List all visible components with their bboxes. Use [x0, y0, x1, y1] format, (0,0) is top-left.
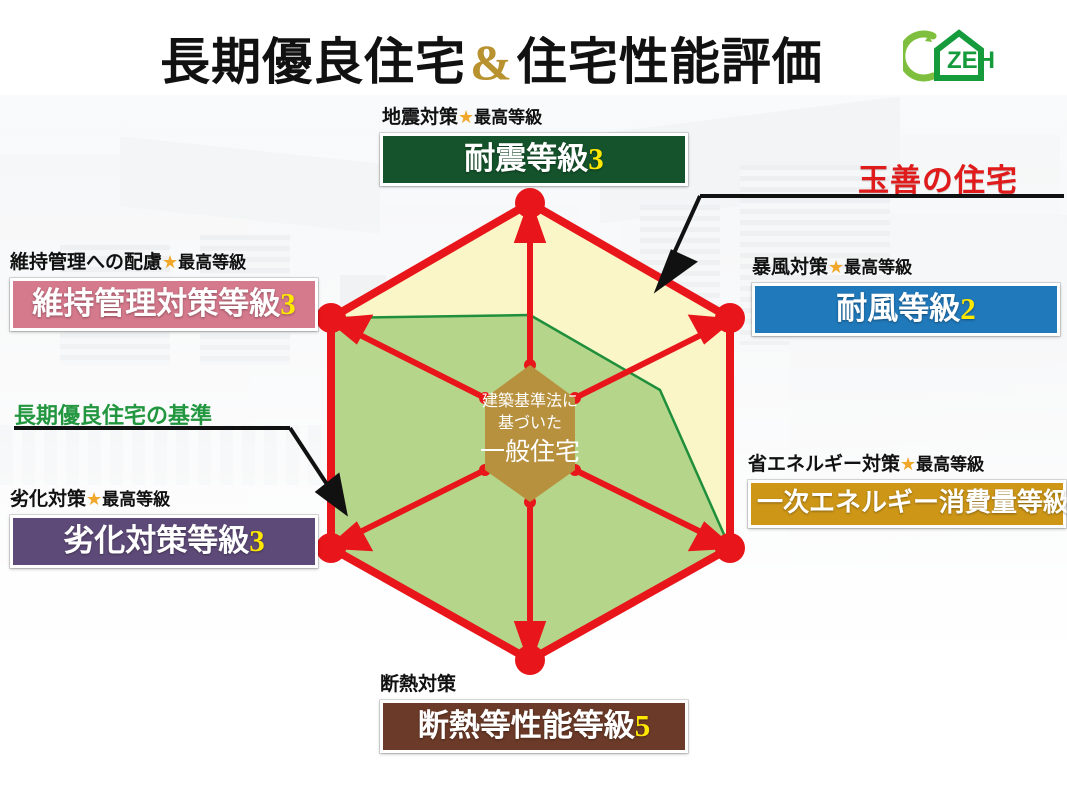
star-icon: ★ — [86, 489, 102, 510]
title-part-2: 住宅性能評価 — [517, 34, 823, 90]
item-energy-caption: 省エネルギー対策★最高等級 — [748, 455, 1066, 476]
item-degradation[interactable]: 劣化対策★最高等級 劣化対策等級3 — [10, 490, 318, 568]
header-bar: 長期優良住宅&住宅性能評価 ZEH — [0, 0, 1067, 95]
item-maintenance-caption: 維持管理への配慮★最高等級 — [10, 253, 318, 274]
item-energy-topic: 省エネルギー対策 — [748, 454, 900, 475]
item-earthquake-rank: 最高等級 — [474, 108, 542, 127]
hexagon-radar-chart: 建築基準法に 基づいた 一般住宅 — [250, 140, 815, 725]
item-degradation-grade-value: 3 — [249, 523, 265, 558]
item-earthquake-topic: 地震対策 — [382, 107, 458, 128]
item-earthquake-grade-value: 3 — [588, 141, 604, 176]
item-earthquake[interactable]: 地震対策★最高等級 耐震等級3 — [380, 108, 688, 186]
item-earthquake-caption: 地震対策★最高等級 — [382, 108, 688, 129]
star-icon: ★ — [162, 252, 178, 273]
item-wind-topic: 暴風対策 — [752, 257, 828, 278]
item-insulation-badge: 断熱等性能等級5 — [380, 700, 688, 753]
item-insulation-grade-text: 断熱等性能等級 — [418, 708, 635, 743]
item-maintenance-rank: 最高等級 — [178, 253, 246, 272]
item-maintenance-topic: 維持管理への配慮 — [10, 252, 162, 273]
item-degradation-topic: 劣化対策 — [10, 489, 86, 510]
item-insulation-grade-value: 5 — [635, 708, 651, 743]
callout-standard-label: 長期優良住宅の基準 — [14, 398, 212, 430]
item-wind[interactable]: 暴風対策★最高等級 耐風等級2 — [752, 258, 1060, 336]
item-wind-badge: 耐風等級2 — [752, 283, 1060, 336]
item-energy-badge: 一次エネルギー消費量等級6 — [748, 480, 1066, 528]
title-part-1: 長期優良住宅 — [160, 34, 466, 90]
item-degradation-caption: 劣化対策★最高等級 — [10, 490, 318, 511]
star-icon: ★ — [828, 257, 844, 278]
item-insulation-topic: 断熱対策 — [380, 674, 456, 695]
item-maintenance-grade-value: 3 — [280, 286, 296, 321]
item-energy[interactable]: 省エネルギー対策★最高等級 一次エネルギー消費量等級6 — [748, 455, 1066, 528]
star-icon: ★ — [900, 454, 916, 475]
item-wind-caption: 暴風対策★最高等級 — [752, 258, 1060, 279]
item-energy-grade-text: 一次エネルギー消費量等級 — [757, 488, 1067, 517]
item-insulation[interactable]: 断熱対策 断熱等性能等級5 — [380, 675, 688, 753]
item-maintenance-grade-text: 維持管理対策等級 — [32, 286, 280, 321]
item-degradation-rank: 最高等級 — [102, 490, 170, 509]
svg-text:ZEH: ZEH — [947, 47, 995, 74]
title-ampersand: & — [470, 34, 513, 90]
center-label-line1: 建築基準法に — [482, 392, 578, 410]
item-wind-grade-value: 2 — [960, 291, 976, 326]
infographic-root: 長期優良住宅&住宅性能評価 ZEH — [0, 0, 1067, 800]
star-icon: ★ — [458, 107, 474, 128]
item-wind-rank: 最高等級 — [844, 258, 912, 277]
item-earthquake-badge: 耐震等級3 — [380, 133, 688, 186]
item-maintenance[interactable]: 維持管理への配慮★最高等級 維持管理対策等級3 — [10, 253, 318, 331]
item-degradation-grade-text: 劣化対策等級 — [63, 523, 249, 558]
item-maintenance-badge: 維持管理対策等級3 — [10, 278, 318, 331]
callout-tamayoshi-label: 玉善の住宅 — [858, 155, 1018, 200]
item-earthquake-grade-text: 耐震等級 — [464, 141, 588, 176]
center-label-line2: 基づいた — [498, 414, 562, 432]
zeh-logo: ZEH — [903, 28, 995, 84]
item-degradation-badge: 劣化対策等級3 — [10, 515, 318, 568]
item-wind-grade-text: 耐風等級 — [836, 291, 960, 326]
item-energy-rank: 最高等級 — [916, 455, 984, 474]
center-label-line3: 一般住宅 — [480, 438, 580, 466]
item-insulation-caption: 断熱対策 — [380, 675, 688, 696]
